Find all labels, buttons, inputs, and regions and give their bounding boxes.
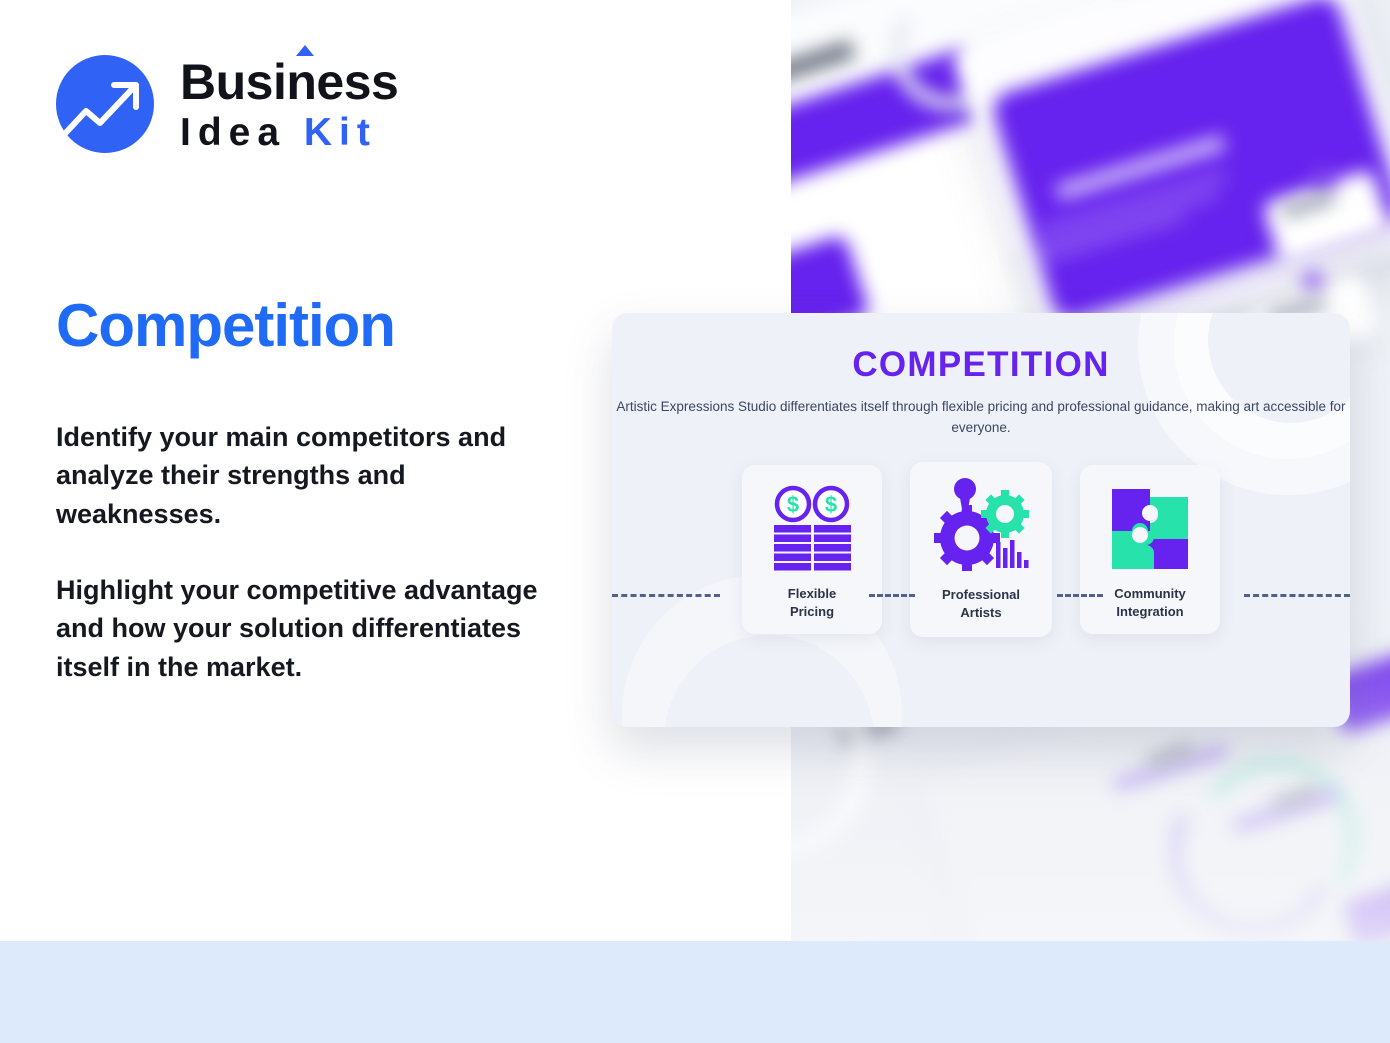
feature-card-professional-artists[interactable]: Professional Artists bbox=[910, 462, 1052, 637]
feature-label: Flexible Pricing bbox=[788, 585, 836, 620]
feature-row: $ $ bbox=[612, 462, 1350, 637]
feature-label-line2: Integration bbox=[1116, 604, 1183, 619]
brand-caret-icon bbox=[296, 45, 314, 56]
feature-label-line2: Artists bbox=[960, 605, 1001, 620]
preview-subtitle: Artistic Expressions Studio differentiat… bbox=[612, 397, 1350, 438]
feature-card-community-integration[interactable]: Community Integration bbox=[1080, 465, 1220, 634]
puzzle-pieces-icon bbox=[1106, 481, 1194, 577]
brand-idea-text: Idea bbox=[180, 111, 286, 154]
connector-dash-mid-2 bbox=[1057, 594, 1103, 597]
brand-kit-text: Kit bbox=[304, 111, 377, 154]
svg-text:$: $ bbox=[787, 492, 799, 517]
connector-dash-mid-1 bbox=[869, 594, 915, 597]
brand-wordmark: Business Idea Kit bbox=[180, 57, 398, 152]
preview-title: COMPETITION bbox=[612, 347, 1350, 382]
preview-content: COMPETITION Artistic Expressions Studio … bbox=[612, 313, 1350, 637]
feature-label-line1: Flexible bbox=[788, 586, 836, 601]
brand-business-text: Business bbox=[180, 54, 398, 110]
feature-card-flexible-pricing[interactable]: $ $ bbox=[742, 465, 882, 634]
body-paragraph-1: Identify your main competitors and analy… bbox=[56, 418, 576, 533]
feature-label-line1: Professional bbox=[942, 587, 1020, 602]
coin-stacks-icon: $ $ bbox=[769, 481, 855, 577]
body-copy: Identify your main competitors and analy… bbox=[56, 418, 576, 686]
slide-preview-card[interactable]: COMPETITION Artistic Expressions Studio … bbox=[612, 313, 1350, 727]
bottom-accent-band bbox=[0, 941, 1390, 1043]
feature-label: Professional Artists bbox=[942, 586, 1020, 621]
feature-label: Community Integration bbox=[1114, 585, 1186, 620]
feature-label-line2: Pricing bbox=[790, 604, 834, 619]
gears-lightbulb-chart-icon bbox=[929, 474, 1033, 578]
growth-arrow-circle-icon bbox=[56, 55, 154, 153]
svg-text:$: $ bbox=[825, 492, 837, 517]
body-paragraph-2: Highlight your competitive advantage and… bbox=[56, 571, 576, 686]
feature-label-line1: Community bbox=[1114, 586, 1186, 601]
connector-dash-right bbox=[1244, 594, 1350, 597]
slide-canvas: Business Idea Kit Competition Identify y… bbox=[0, 0, 1390, 1043]
brand-logo: Business Idea Kit bbox=[56, 55, 398, 153]
brand-line-1: Business bbox=[180, 57, 398, 107]
brand-line-2: Idea Kit bbox=[180, 113, 398, 152]
connector-dash-left bbox=[612, 594, 720, 597]
page-title: Competition bbox=[56, 296, 395, 356]
